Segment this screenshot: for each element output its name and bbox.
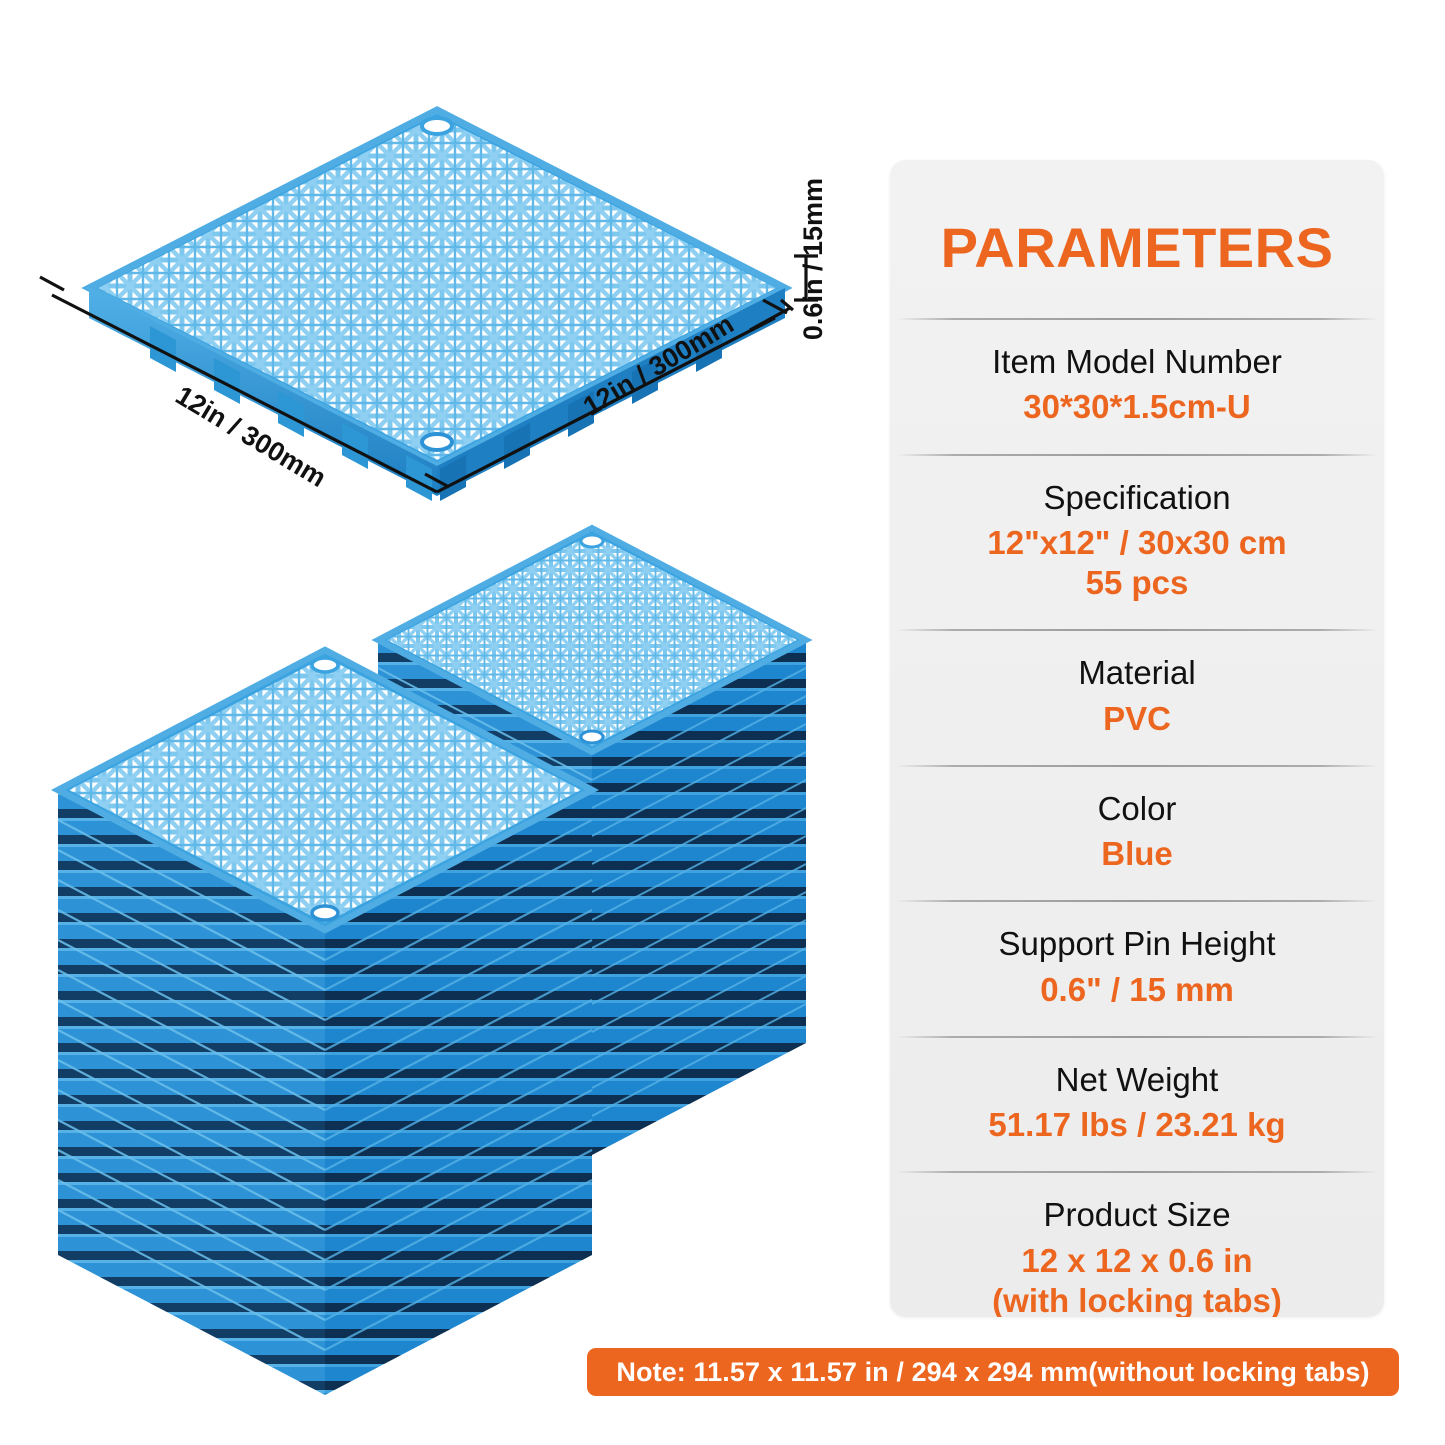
param-value: 0.6" / 15 mm: [908, 970, 1366, 1010]
param-label: Specification: [908, 478, 1366, 518]
tiles-svg: [0, 0, 870, 1445]
param-value: 12"x12" / 30x30 cm 55 pcs: [908, 523, 1366, 604]
param-value: 51.17 lbs / 23.21 kg: [908, 1105, 1366, 1145]
product-illustration: 12in / 300mm 12in / 300mm 0.6in / 15mm: [0, 0, 870, 1445]
param-label: Item Model Number: [908, 342, 1366, 382]
param-value: 30*30*1.5cm-U: [908, 387, 1366, 427]
param-label: Color: [908, 789, 1366, 829]
single-tile: [89, 110, 785, 501]
param-row-specification: Specification 12"x12" / 30x30 cm 55 pcs: [890, 454, 1384, 630]
note-text: Note: 11.57 x 11.57 in / 294 x 294 mm(wi…: [616, 1357, 1369, 1388]
param-label: Product Size: [908, 1195, 1366, 1235]
param-row-net-weight: Net Weight 51.17 lbs / 23.21 kg: [890, 1036, 1384, 1172]
param-row-material: Material PVC: [890, 629, 1384, 765]
note-banner: Note: 11.57 x 11.57 in / 294 x 294 mm(wi…: [587, 1348, 1399, 1396]
param-row-color: Color Blue: [890, 765, 1384, 901]
front-stack: [58, 650, 592, 1395]
tile-height-dimension-label: 0.6in / 15mm: [798, 178, 829, 340]
param-label: Support Pin Height: [908, 924, 1366, 964]
parameters-panel: PARAMETERS Item Model Number 30*30*1.5cm…: [890, 160, 1384, 1317]
param-row-item-model-number: Item Model Number 30*30*1.5cm-U: [890, 318, 1384, 454]
product-spec-image: 12in / 300mm 12in / 300mm 0.6in / 15mm P…: [0, 0, 1445, 1445]
parameters-title: PARAMETERS: [890, 160, 1384, 318]
param-value: 12 x 12 x 0.6 in (with locking tabs): [908, 1241, 1366, 1318]
param-value: PVC: [908, 699, 1366, 739]
param-label: Material: [908, 653, 1366, 693]
param-label: Net Weight: [908, 1060, 1366, 1100]
param-row-product-size: Product Size 12 x 12 x 0.6 in (with lock…: [890, 1171, 1384, 1317]
param-value: Blue: [908, 834, 1366, 874]
param-row-support-pin-height: Support Pin Height 0.6" / 15 mm: [890, 900, 1384, 1036]
